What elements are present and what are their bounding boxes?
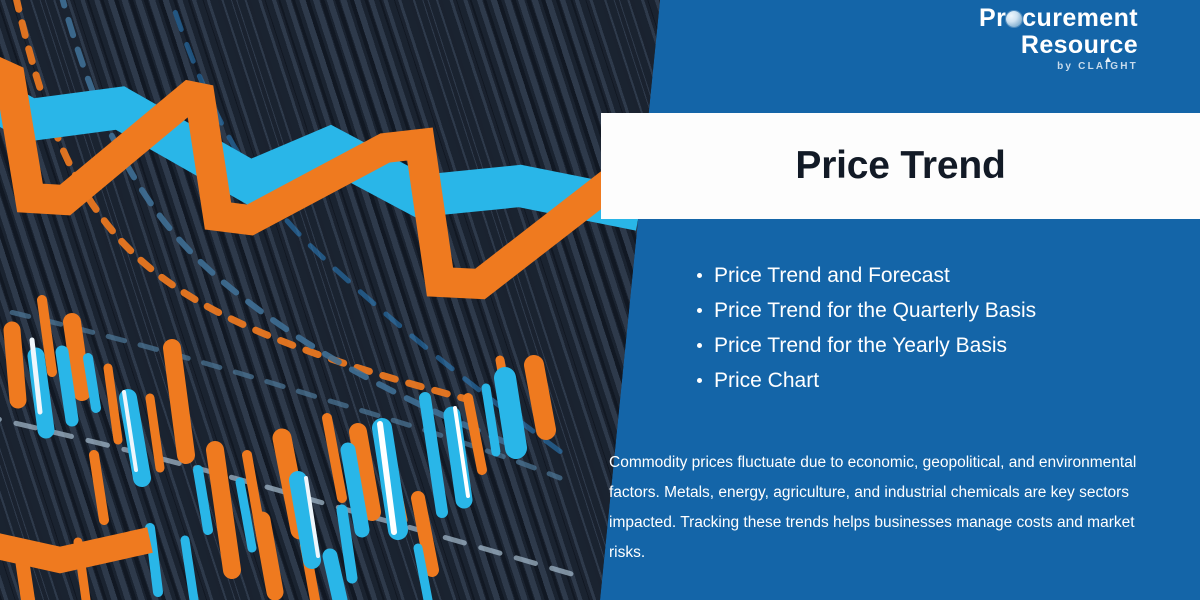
tagline-prefix: by CLA (1057, 61, 1105, 72)
bullet-icon (697, 343, 702, 348)
financial-chart-artwork (0, 0, 660, 600)
logo-text-after: curement (1022, 4, 1138, 32)
logo-tagline: by CLAIGHT (979, 62, 1138, 72)
bullet-icon (697, 273, 702, 278)
orange-trend-line (0, 0, 660, 600)
price-trend-banner: Prcurement Resource by CLAIGHT Price Tre… (0, 0, 1200, 600)
list-item[interactable]: Price Trend and Forecast (692, 258, 1162, 293)
logo-text-before: Pr (979, 4, 1006, 32)
list-item-label: Price Trend for the Yearly Basis (714, 334, 1007, 357)
list-item-label: Price Trend and Forecast (714, 264, 950, 287)
bullet-icon (697, 378, 702, 383)
procurement-resource-logo[interactable]: Prcurement Resource by CLAIGHT (979, 6, 1138, 72)
logo-line-1: Prcurement (979, 6, 1138, 31)
page-title: Price Trend (795, 144, 1005, 188)
title-banner: Price Trend (601, 113, 1200, 219)
tagline-suffix: GHT (1110, 61, 1138, 72)
description-paragraph: Commodity prices fluctuate due to econom… (609, 448, 1161, 568)
list-item-label: Price Trend for the Quarterly Basis (714, 299, 1036, 322)
bullet-icon (697, 308, 702, 313)
list-item[interactable]: Price Trend for the Quarterly Basis (692, 293, 1162, 328)
topic-list: Price Trend and Forecast Price Trend for… (692, 258, 1162, 398)
list-item[interactable]: Price Trend for the Yearly Basis (692, 328, 1162, 363)
list-item[interactable]: Price Chart (692, 363, 1162, 398)
tagline-mark: I (1105, 62, 1110, 72)
list-item-label: Price Chart (714, 369, 819, 392)
logo-line-2: Resource (979, 33, 1138, 58)
globe-icon (1006, 11, 1022, 27)
